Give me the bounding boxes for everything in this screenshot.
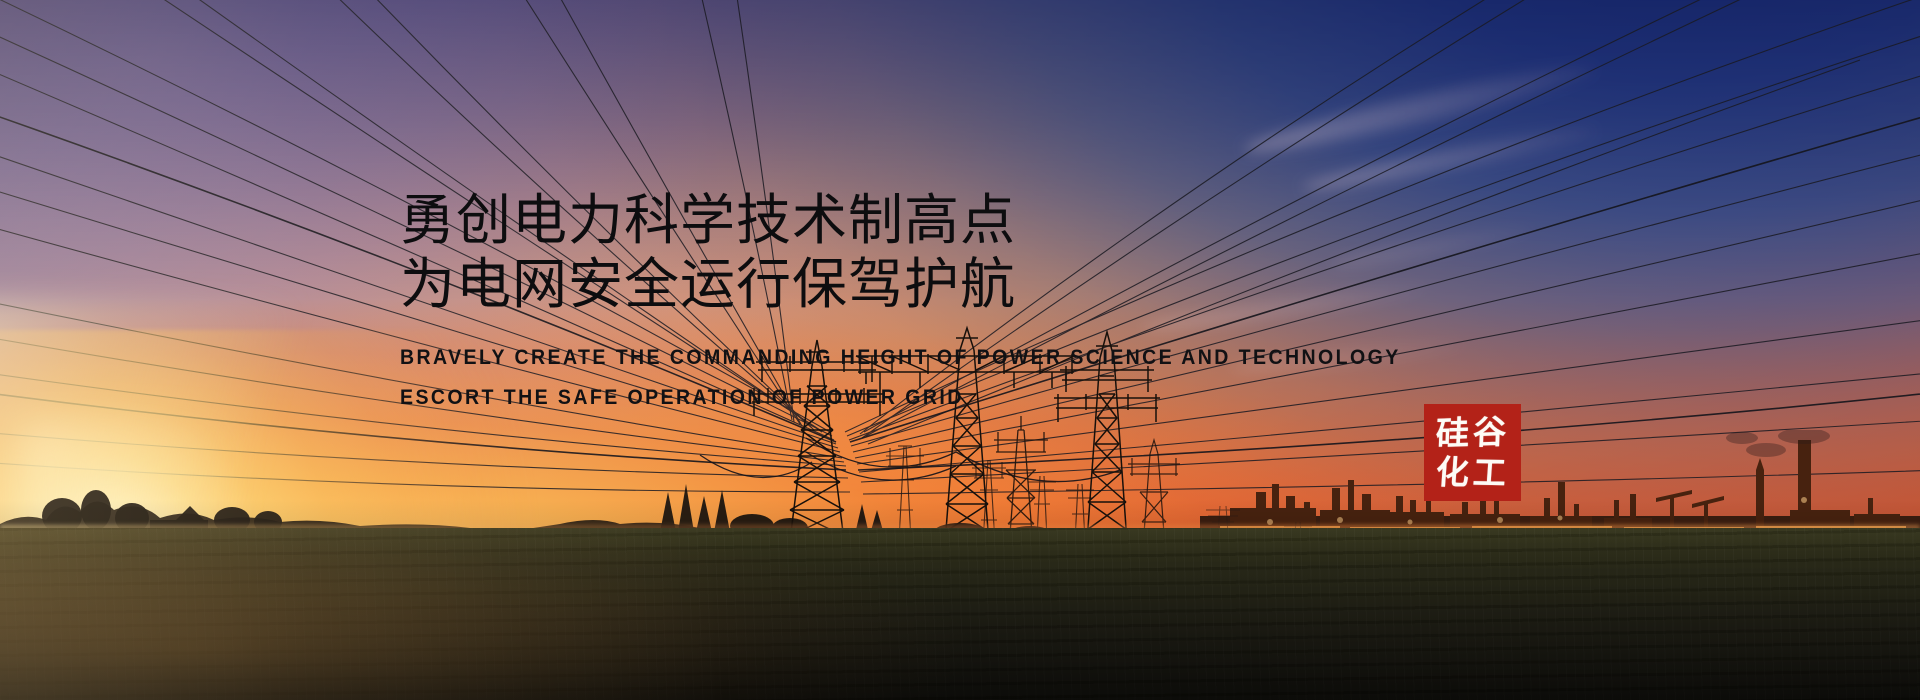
subheadline: BRAVELY CREATE THE COMMANDING HEIGHT OF … xyxy=(400,338,1520,418)
headline-line-2: 为电网安全运行保驾护航 xyxy=(400,252,1520,316)
banner-copy: 勇创电力科学技术制高点 为电网安全运行保驾护航 BRAVELY CREATE T… xyxy=(400,188,1520,418)
logo-text-line-2: 化工 xyxy=(1434,452,1511,493)
field-vignette xyxy=(0,500,1920,700)
logo-text-line-1: 硅谷 xyxy=(1435,411,1511,454)
hero-banner: 勇创电力科学技术制高点 为电网安全运行保驾护航 BRAVELY CREATE T… xyxy=(0,0,1920,700)
subheadline-line-1: BRAVELY CREATE THE COMMANDING HEIGHT OF … xyxy=(400,338,1442,378)
subheadline-line-2: ESCORT THE SAFE OPERATION OF POWER GRID xyxy=(400,378,1442,418)
headline-line-1: 勇创电力科学技术制高点 xyxy=(400,188,1520,252)
company-logo-stamp[interactable]: 硅谷 化工 xyxy=(1424,404,1521,501)
